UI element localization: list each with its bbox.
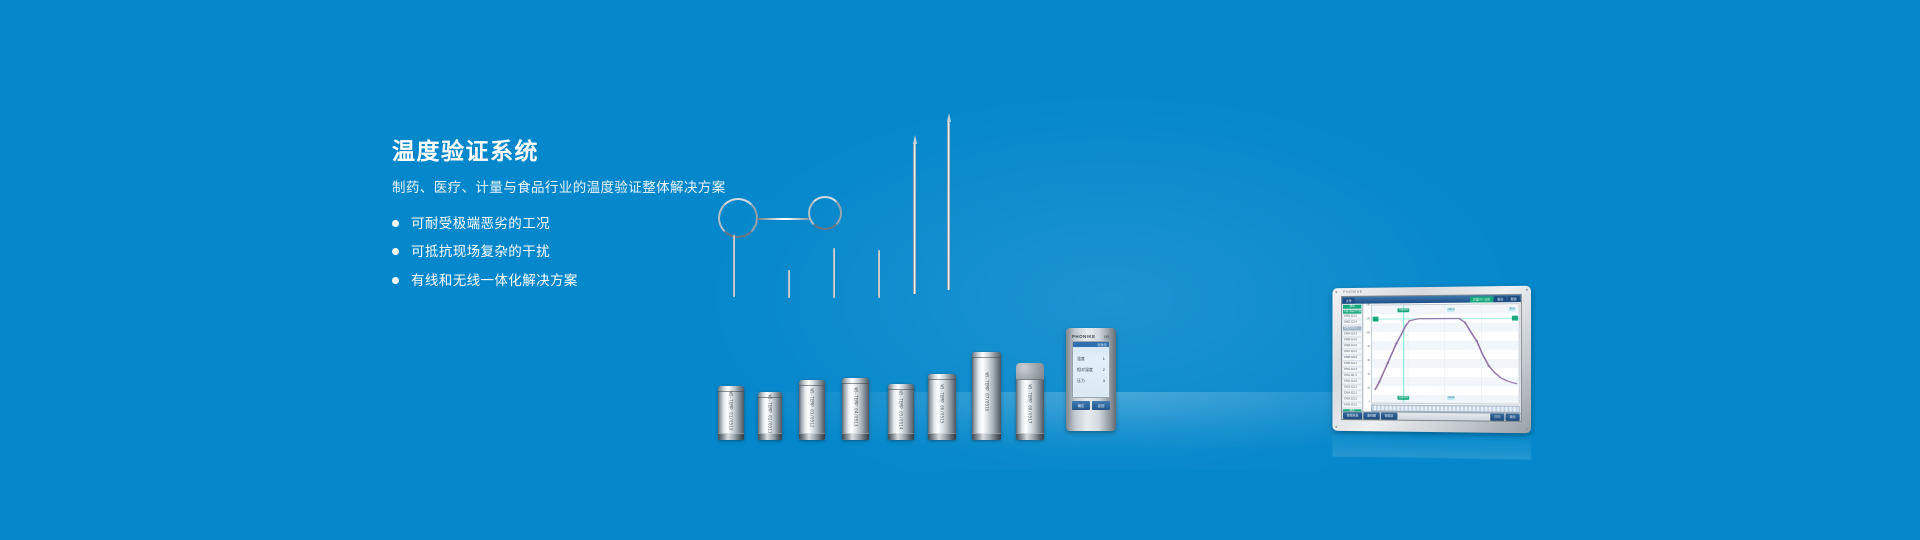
toolbar-spacer xyxy=(1356,299,1469,300)
y-tick: 0 xyxy=(1369,401,1370,404)
data-logger: WS-TEMP 02/0511 xyxy=(758,392,782,440)
data-logger-with-filter: WS-TEMP 08/0517 xyxy=(1016,374,1044,440)
logger-base xyxy=(972,433,1001,440)
y-tick: 80 xyxy=(1367,345,1370,348)
y-tick: 20 xyxy=(1367,387,1370,390)
handheld-reader[interactable]: PHONIKE W1 测量值 温度 1 相对湿度 2 xyxy=(1066,328,1116,431)
lcd-row-value: 2 xyxy=(1103,368,1105,373)
logger-label: WS-TEMP 03/0512 xyxy=(810,388,815,427)
hero-copy: 温度验证系统 制药、医疗、计量与食品行业的温度验证整体解决方案 可耐受极端恶劣的… xyxy=(392,140,726,302)
logger-base xyxy=(842,433,869,440)
chart-svg xyxy=(1372,304,1519,404)
bullet-label: 有线和无线一体化解决方案 xyxy=(411,274,578,288)
page-title: 温度验证系统 xyxy=(392,140,726,163)
bullet-label: 可抵抗现场复杂的干扰 xyxy=(411,245,550,259)
channel-row[interactable]: CH07 121.2 xyxy=(1343,350,1361,355)
cursor-start-label[interactable]: 开始时间 xyxy=(1398,308,1409,312)
logger-base xyxy=(1016,433,1044,440)
logger-cap xyxy=(842,378,869,384)
data-logger: WS-TEMP 04/0513 xyxy=(842,378,869,440)
channel-row[interactable]: CH05 121.0 xyxy=(1343,338,1361,343)
chart-y-axis: 140 120 100 80 60 40 20 0 xyxy=(1363,304,1371,404)
software-body: 通道 灭菌 温度/F0 值 CH01 121.2 CH02 121.4 CH03… xyxy=(1342,302,1521,413)
y-tick: 100 xyxy=(1366,331,1370,334)
list-item: 相对湿度 2 xyxy=(1077,368,1105,373)
lcd-row-name: 压力 xyxy=(1077,379,1085,384)
channel-row[interactable]: CH06 121.5 xyxy=(1343,344,1361,349)
monitor-screen: 文件 灭菌/F0 分析 报表 帮助 通道 灭菌 温度/F0 值 CH01 121… xyxy=(1341,294,1522,422)
cursor-ghost-right: 60.0 xyxy=(1509,307,1516,311)
list-item: 可抵抗现场复杂的干扰 xyxy=(392,245,726,259)
reader-confirm-button[interactable]: 确定 xyxy=(1072,401,1090,410)
data-logger: WS-TEMP 05/0514 xyxy=(888,384,914,440)
feature-bullet-list: 可耐受极端恶劣的工况 可抵抗现场复杂的干扰 有线和无线一体化解决方案 xyxy=(392,217,726,288)
cursor-ghost-top: 121.0 xyxy=(1447,308,1455,312)
software-bottom-toolbar: 数据采集 曲线图 数据表 打印 退出 xyxy=(1342,411,1521,421)
cursor-end-label[interactable]: 结束时间 xyxy=(1398,396,1409,400)
table-view-button[interactable]: 数据表 xyxy=(1381,413,1398,420)
monitor-reflection xyxy=(1332,431,1531,460)
reader-brand-row: PHONIKE W1 xyxy=(1070,332,1112,340)
logger-base xyxy=(928,433,956,440)
y-tick: 40 xyxy=(1367,373,1370,376)
bullet-dot-icon xyxy=(392,220,399,227)
product-photo-group: WS-TEMP 01/0510 WS-TEMP 02/0511 WS-TEMP … xyxy=(700,100,1530,440)
channel-row-selected[interactable]: CH03 121.1 xyxy=(1343,326,1361,331)
cursor-ghost-bottom: 00:00 xyxy=(1447,396,1455,400)
logger-label: WS-TEMP 04/0513 xyxy=(853,387,858,426)
exit-button[interactable]: 退出 xyxy=(1505,414,1519,421)
channel-row[interactable]: CH14 121.1 xyxy=(1343,392,1361,397)
logger-label: WS-TEMP 02/0511 xyxy=(768,395,773,434)
probe-stem xyxy=(833,248,835,298)
sintered-filter-icon xyxy=(1016,363,1044,380)
bezel-screw-icon xyxy=(1526,289,1528,291)
channel-row[interactable]: CH04 121.3 xyxy=(1343,332,1361,337)
probe-stem xyxy=(788,270,790,298)
bullet-label: 可耐受极端恶劣的工况 xyxy=(411,217,550,231)
toolbar-spacer xyxy=(1398,416,1489,417)
coil-probe-lead xyxy=(757,218,809,220)
logger-label: WS-TEMP 08/0517 xyxy=(1028,385,1033,424)
bullet-dot-icon xyxy=(392,248,399,255)
lcd-row-name: 相对湿度 xyxy=(1077,368,1093,373)
sidebar-header: 通道 xyxy=(1343,305,1361,309)
logger-label: WS-TEMP 05/0514 xyxy=(899,390,904,429)
channel-row[interactable]: CH13 121.2 xyxy=(1343,386,1361,391)
curve-view-button[interactable]: 曲线图 xyxy=(1363,412,1380,419)
bezel-screw-icon xyxy=(1335,426,1337,428)
chart-data-markers xyxy=(1378,321,1490,383)
list-item: 可耐受极端恶劣的工况 xyxy=(392,217,726,231)
bullet-dot-icon xyxy=(392,277,399,284)
channel-row[interactable]: CH08 120.9 xyxy=(1343,356,1361,361)
toolbar-file-button[interactable]: 文件 xyxy=(1343,297,1355,303)
sidebar-subheader: 灭菌 温度/F0 值 xyxy=(1343,310,1361,314)
data-logger: WS-TEMP 06/0515 xyxy=(928,374,956,440)
lcd-header-label: 测量值 xyxy=(1097,343,1107,347)
panel-monitor: PHONIKE 文件 灭菌/F0 分析 报表 帮助 通道 xyxy=(1332,286,1531,434)
channel-row[interactable]: CH02 121.4 xyxy=(1343,320,1361,325)
monitor-brand-label: PHONIKE xyxy=(1343,290,1363,294)
bezel-screw-icon xyxy=(1526,428,1528,430)
logger-cap xyxy=(928,374,956,380)
cursor-handle-right xyxy=(1512,316,1518,321)
toolbar-help-button[interactable]: 帮助 xyxy=(1507,296,1519,302)
data-logger: WS-TEMP 01/0510 xyxy=(718,386,744,440)
channel-row[interactable]: CH09 121.1 xyxy=(1343,362,1361,367)
print-button[interactable]: 打印 xyxy=(1490,414,1504,421)
reader-back-button[interactable]: 返回 xyxy=(1092,401,1110,410)
channel-row[interactable]: CH15 121.3 xyxy=(1343,397,1361,402)
lcd-row-name: 温度 xyxy=(1077,357,1085,362)
reader-lcd-screen: 测量值 温度 1 相对湿度 2 压力 3 xyxy=(1072,341,1110,398)
logger-base xyxy=(799,433,825,440)
logger-base xyxy=(888,433,914,440)
logger-cap xyxy=(972,352,1001,358)
list-item: 有线和无线一体化解决方案 xyxy=(392,274,726,288)
logger-label: WS-TEMP 01/0510 xyxy=(729,391,734,430)
logger-label: WS-TEMP 07/0516 xyxy=(984,373,989,412)
acquire-data-button[interactable]: 数据采集 xyxy=(1343,412,1362,419)
channel-row[interactable]: CH11 121.4 xyxy=(1343,374,1361,379)
logger-label: WS-TEMP 06/0515 xyxy=(940,385,945,424)
chart-plot-area: 开始时间 结束时间 121.0 00:00 60.0 xyxy=(1371,303,1520,405)
lcd-rows: 温度 1 相对湿度 2 压力 3 xyxy=(1073,347,1109,384)
temperature-chart: 140 120 100 80 60 40 20 0 xyxy=(1363,302,1520,413)
y-tick: 120 xyxy=(1366,317,1370,320)
chart-series-line xyxy=(1375,318,1517,391)
lcd-row-value: 3 xyxy=(1103,379,1105,384)
channel-row[interactable]: CH10 121.3 xyxy=(1343,368,1361,373)
probe-stem xyxy=(878,250,880,298)
probe-stem xyxy=(733,235,735,297)
chart-horizontal-scrollbar[interactable] xyxy=(1371,405,1520,413)
lcd-row-value: 1 xyxy=(1103,357,1105,362)
toolbar-report-button[interactable]: 报表 xyxy=(1494,296,1506,302)
chart-gridlines xyxy=(1408,305,1481,404)
page-subtitle: 制药、医疗、计量与食品行业的温度验证整体解决方案 xyxy=(392,181,726,195)
cursor-handle-left xyxy=(1373,317,1379,322)
y-tick: 60 xyxy=(1367,359,1370,362)
channel-sidebar[interactable]: 通道 灭菌 温度/F0 值 CH01 121.2 CH02 121.4 CH03… xyxy=(1342,304,1363,412)
channel-row[interactable]: CH16 121.2 xyxy=(1343,403,1361,408)
channel-row[interactable]: CH01 121.2 xyxy=(1343,315,1361,320)
logger-cap xyxy=(888,384,914,390)
coil-probe-icon xyxy=(808,196,842,230)
channel-row[interactable]: CH12 121.0 xyxy=(1343,380,1361,385)
list-item: 压力 3 xyxy=(1077,379,1105,384)
needle-probe-icon xyxy=(913,144,916,294)
bezel-screw-icon xyxy=(1335,291,1337,293)
logger-base xyxy=(718,433,744,440)
logger-base xyxy=(758,433,782,440)
data-logger: WS-TEMP 07/0516 xyxy=(972,352,1001,440)
list-item: 温度 1 xyxy=(1077,357,1105,362)
reader-button-row: 确定 返回 xyxy=(1072,401,1110,410)
reader-brand-label: PHONIKE xyxy=(1072,334,1096,339)
reader-model-label: W1 xyxy=(1104,334,1110,339)
needle-probe-icon xyxy=(947,122,950,290)
logger-cap xyxy=(799,380,825,386)
toolbar-active-tab[interactable]: 灭菌/F0 分析 xyxy=(1470,296,1493,302)
data-logger: WS-TEMP 03/0512 xyxy=(799,380,825,440)
hero-banner: 温度验证系统 制药、医疗、计量与食品行业的温度验证整体解决方案 可耐受极端恶劣的… xyxy=(0,0,1920,540)
y-tick: 140 xyxy=(1366,304,1370,307)
